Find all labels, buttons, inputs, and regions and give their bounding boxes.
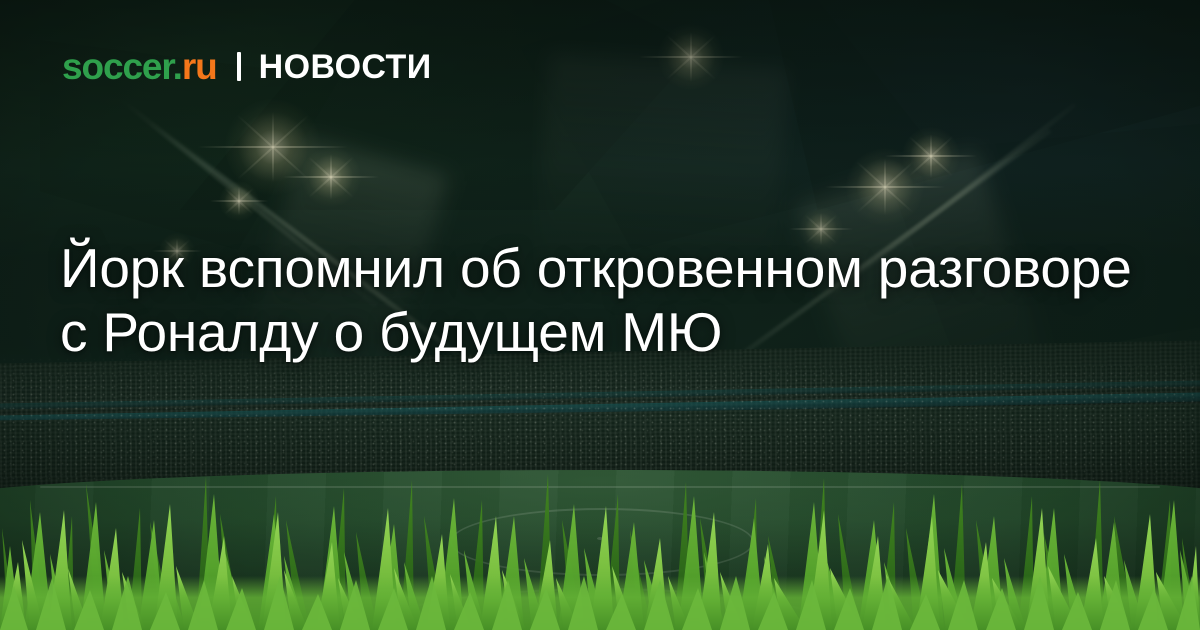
logo-name: soccer (62, 46, 173, 87)
news-share-card: soccer.ru НОВОСТИ Йорк вспомнил об откро… (0, 0, 1200, 630)
logo-dot: . (173, 46, 182, 87)
site-logo[interactable]: soccer.ru (62, 48, 217, 85)
logo-tld: ru (182, 46, 217, 87)
brand-separator (237, 52, 241, 81)
card-content: soccer.ru НОВОСТИ Йорк вспомнил об откро… (0, 0, 1200, 630)
page-title: Йорк вспомнил об откровенном разговоре с… (60, 236, 1148, 365)
section-label: НОВОСТИ (259, 50, 432, 84)
brand-bar[interactable]: soccer.ru НОВОСТИ (62, 48, 432, 85)
